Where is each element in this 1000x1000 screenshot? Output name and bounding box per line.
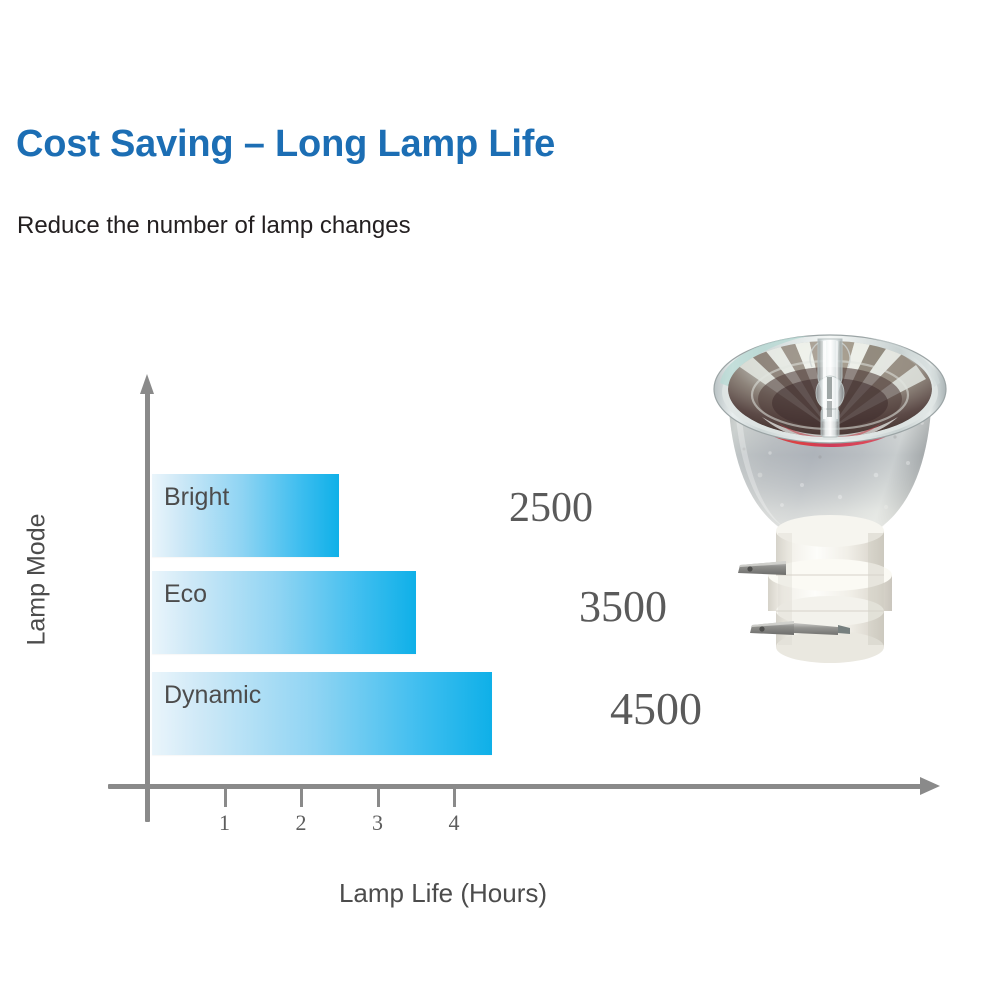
bar-value-bright: 2500 [509, 484, 593, 532]
bar-chart: 1234 BrightEcoDynamic 2500 3500 4500 Lam… [0, 0, 700, 1000]
x-axis-tick-3 [377, 789, 380, 807]
x-axis-tick-label-1: 1 [205, 810, 245, 836]
x-axis-tick-2 [300, 789, 303, 807]
bar-label-eco: Eco [164, 580, 207, 609]
projector-lamp-image [690, 325, 970, 675]
x-axis-line [108, 784, 926, 789]
x-axis-title: Lamp Life (Hours) [233, 878, 653, 909]
x-axis-tick-label-4: 4 [434, 810, 474, 836]
x-axis-tick-4 [453, 789, 456, 807]
lamp-ceramic-base [768, 515, 892, 663]
y-axis-title: Lamp Mode [23, 500, 52, 660]
bar-value-dynamic: 4500 [610, 682, 702, 735]
bar-label-bright: Bright [164, 483, 229, 512]
y-axis-arrow-icon [140, 374, 154, 394]
page-root: Cost Saving – Long Lamp Life Reduce the … [0, 0, 1000, 1000]
bar-dynamic[interactable]: Dynamic [152, 672, 492, 755]
x-axis-tick-1 [224, 789, 227, 807]
bar-value-eco: 3500 [579, 581, 667, 632]
x-axis-tick-label-3: 3 [358, 810, 398, 836]
x-axis-tick-label-2: 2 [281, 810, 321, 836]
bar-label-dynamic: Dynamic [164, 681, 261, 710]
x-axis-arrow-icon [920, 777, 940, 795]
bar-eco[interactable]: Eco [152, 571, 416, 654]
bar-bright[interactable]: Bright [152, 474, 339, 557]
y-axis-line [145, 390, 150, 822]
